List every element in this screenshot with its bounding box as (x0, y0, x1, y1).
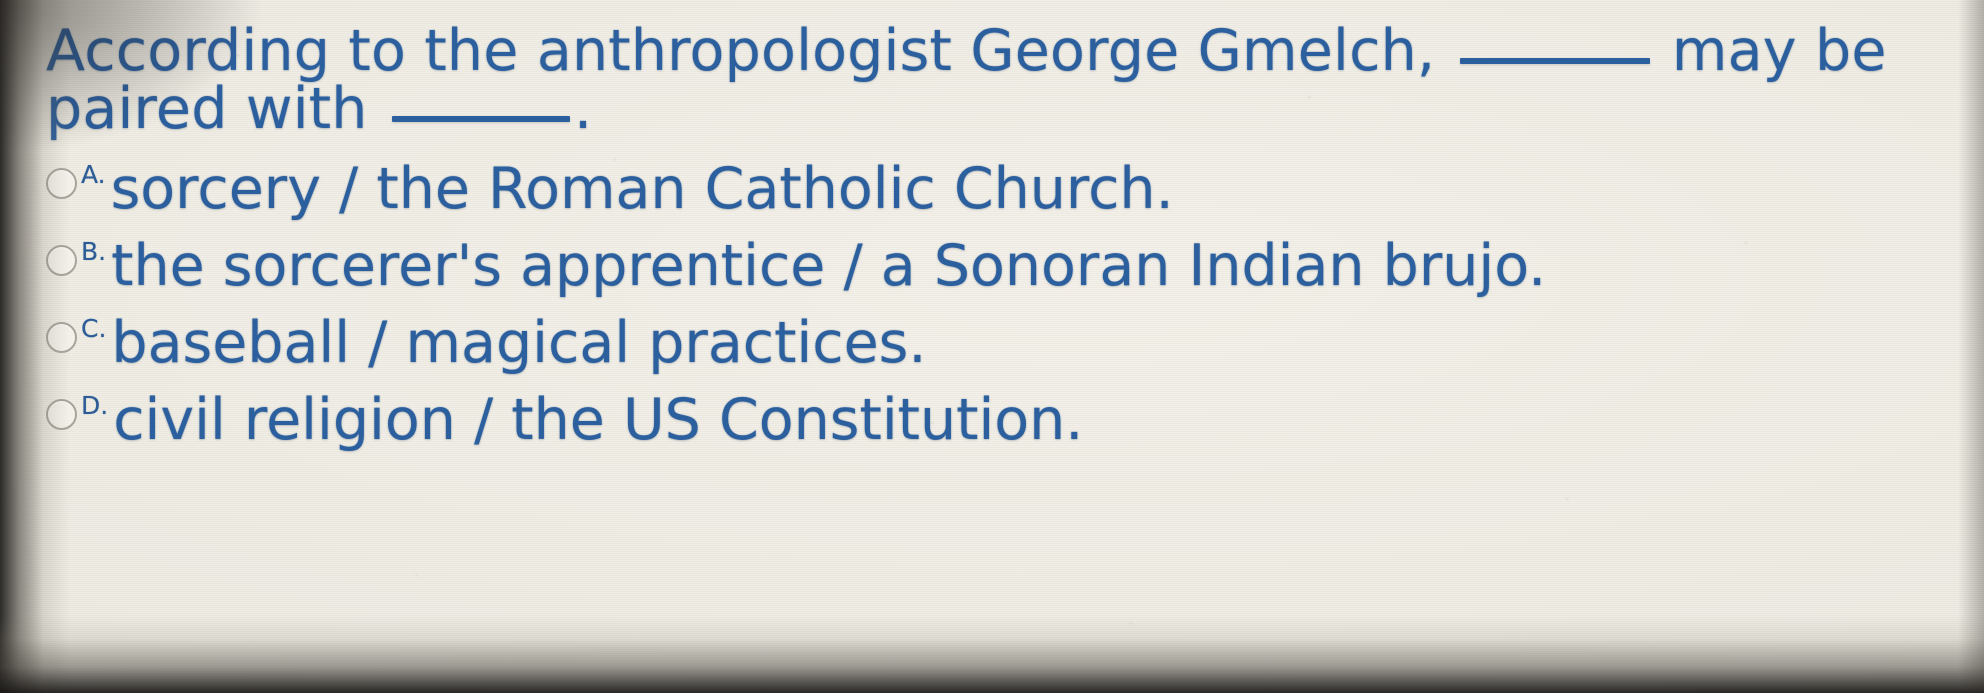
answer-option-b[interactable]: B. the sorcerer's apprentice / a Sonoran… (46, 227, 1964, 304)
question-stem-part3: paired with (46, 76, 368, 142)
answer-option-d[interactable]: D. civil religion / the US Constitution. (46, 381, 1964, 458)
option-text-d[interactable]: civil religion / the US Constitution. (113, 389, 1083, 451)
option-letter-a: A. (81, 162, 106, 187)
option-text-a[interactable]: sorcery / the Roman Catholic Church. (111, 158, 1174, 220)
option-letter-b: B. (81, 239, 106, 264)
quiz-question-screen: According to the anthropologist George G… (0, 0, 1984, 693)
answer-option-a[interactable]: A. sorcery / the Roman Catholic Church. (46, 150, 1964, 227)
question-stem-period: . (574, 76, 592, 142)
answer-option-c[interactable]: C. baseball / magical practices. (46, 304, 1964, 381)
answer-options-list: A. sorcery / the Roman Catholic Church. … (46, 150, 1964, 458)
question-content: According to the anthropologist George G… (0, 0, 1984, 693)
option-text-c[interactable]: baseball / magical practices. (111, 312, 926, 374)
option-letter-d: D. (81, 393, 108, 418)
radio-unchecked-icon[interactable] (46, 245, 77, 276)
question-stem-part1: According to the anthropologist George G… (46, 18, 1435, 84)
radio-unchecked-icon[interactable] (46, 322, 77, 353)
option-text-b[interactable]: the sorcerer's apprentice / a Sonoran In… (111, 235, 1546, 297)
radio-unchecked-icon[interactable] (46, 399, 77, 430)
question-stem: According to the anthropologist George G… (46, 22, 1964, 138)
question-stem-part2: may be (1672, 18, 1887, 84)
radio-unchecked-icon[interactable] (46, 168, 77, 199)
option-letter-c: C. (81, 316, 106, 341)
